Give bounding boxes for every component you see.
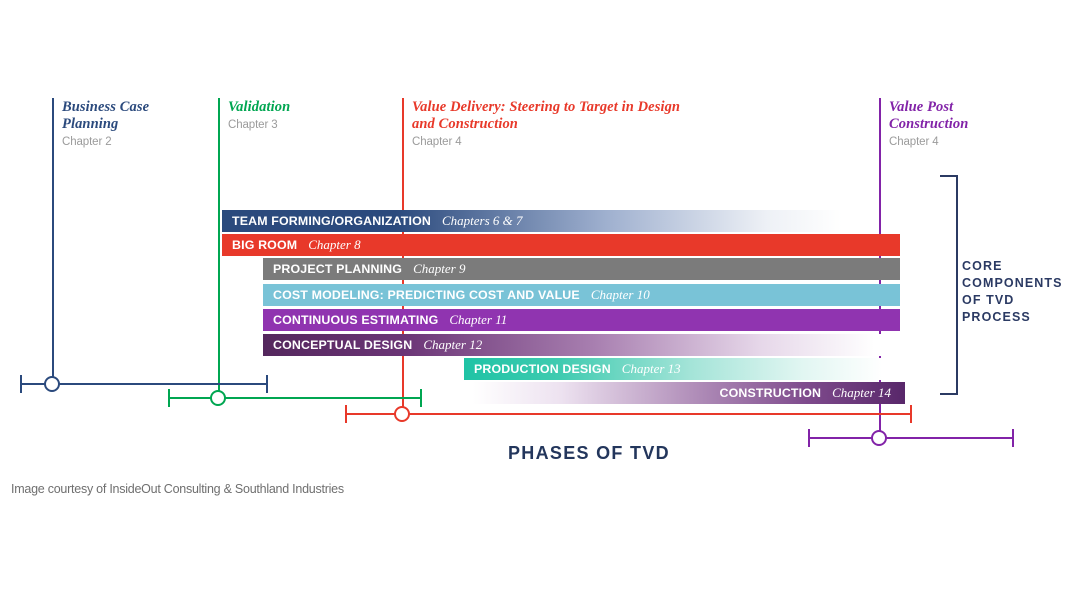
marker-value-delivery-span-line bbox=[345, 413, 912, 415]
phase-header-business-case-planning: Business Case PlanningChapter 2 bbox=[62, 99, 149, 148]
bar-conceptual-design: CONCEPTUAL DESIGNChapter 12 bbox=[263, 334, 900, 356]
marker-business-case-planning-start-cap bbox=[20, 375, 22, 393]
phase-title-value-delivery: Value Delivery: Steering to Target in De… bbox=[412, 99, 680, 133]
bar-label-conceptual-design: CONCEPTUAL DESIGN bbox=[273, 338, 412, 352]
phase-chapter-business-case-planning: Chapter 2 bbox=[62, 136, 149, 148]
marker-value-post-construction-end-cap bbox=[1012, 429, 1014, 447]
phase-line-validation bbox=[218, 98, 220, 398]
bar-label-production-design: PRODUCTION DESIGN bbox=[474, 362, 611, 376]
marker-validation-start-cap bbox=[168, 389, 170, 407]
phase-line-business-case-planning bbox=[52, 98, 54, 385]
marker-business-case-planning-center-dot bbox=[44, 376, 60, 392]
marker-value-delivery bbox=[345, 404, 912, 424]
bar-label-continuous-estimating: CONTINUOUS ESTIMATING bbox=[273, 313, 438, 327]
marker-value-post-construction-center-dot bbox=[871, 430, 887, 446]
marker-value-delivery-center-dot bbox=[394, 406, 410, 422]
bar-chapter-cost-modeling: Chapter 10 bbox=[591, 287, 650, 303]
bar-chapter-big-room: Chapter 8 bbox=[308, 237, 360, 253]
phases-of-tvd-caption: PHASES OF TVD bbox=[508, 443, 670, 464]
bar-label-team-forming-organization: TEAM FORMING/ORGANIZATION bbox=[232, 214, 431, 228]
tvd-phases-diagram: Business Case PlanningChapter 2Validatio… bbox=[0, 0, 1080, 600]
bar-chapter-project-planning: Chapter 9 bbox=[413, 261, 465, 277]
marker-value-post-construction bbox=[808, 428, 1014, 448]
core-components-label: CORE COMPONENTS OF TVD PROCESS bbox=[962, 258, 1063, 326]
marker-validation-center-dot bbox=[210, 390, 226, 406]
bar-chapter-construction: Chapter 14 bbox=[832, 385, 891, 401]
bar-team-forming-organization: TEAM FORMING/ORGANIZATIONChapters 6 & 7 bbox=[222, 210, 842, 232]
phase-title-value-post-construction: Value Post Construction bbox=[889, 99, 968, 133]
phase-header-value-delivery: Value Delivery: Steering to Target in De… bbox=[412, 99, 680, 148]
bar-label-cost-modeling: COST MODELING: PREDICTING COST AND VALUE bbox=[273, 288, 580, 302]
marker-value-delivery-start-cap bbox=[345, 405, 347, 423]
bar-big-room: BIG ROOMChapter 8 bbox=[222, 234, 900, 256]
bar-project-planning: PROJECT PLANNINGChapter 9 bbox=[263, 258, 900, 280]
marker-value-delivery-end-cap bbox=[910, 405, 912, 423]
phase-title-validation: Validation bbox=[228, 99, 290, 116]
bar-production-design: PRODUCTION DESIGNChapter 13 bbox=[464, 358, 900, 380]
bar-continuous-estimating: CONTINUOUS ESTIMATINGChapter 11 bbox=[263, 309, 900, 331]
phase-line-value-delivery bbox=[402, 98, 404, 414]
core-components-bracket bbox=[940, 175, 958, 395]
marker-value-post-construction-span-line bbox=[808, 437, 1014, 439]
bar-chapter-continuous-estimating: Chapter 11 bbox=[449, 312, 507, 328]
bar-label-construction: CONSTRUCTION bbox=[720, 386, 822, 400]
bar-construction: CONSTRUCTIONChapter 14 bbox=[464, 382, 905, 404]
marker-value-post-construction-start-cap bbox=[808, 429, 810, 447]
marker-validation-span-line bbox=[168, 397, 422, 399]
bar-cost-modeling: COST MODELING: PREDICTING COST AND VALUE… bbox=[263, 284, 900, 306]
phase-title-business-case-planning: Business Case Planning bbox=[62, 99, 149, 133]
phase-chapter-value-delivery: Chapter 4 bbox=[412, 136, 680, 148]
bar-chapter-production-design: Chapter 13 bbox=[622, 361, 681, 377]
phase-chapter-value-post-construction: Chapter 4 bbox=[889, 136, 968, 148]
bar-chapter-conceptual-design: Chapter 12 bbox=[423, 337, 482, 353]
bar-chapter-team-forming-organization: Chapters 6 & 7 bbox=[442, 213, 523, 229]
phase-header-value-post-construction: Value Post ConstructionChapter 4 bbox=[889, 99, 968, 148]
bar-label-project-planning: PROJECT PLANNING bbox=[273, 262, 402, 276]
bar-label-big-room: BIG ROOM bbox=[232, 238, 297, 252]
phase-chapter-validation: Chapter 3 bbox=[228, 119, 290, 131]
image-credit: Image courtesy of InsideOut Consulting &… bbox=[11, 482, 344, 496]
phase-header-validation: ValidationChapter 3 bbox=[228, 99, 290, 131]
